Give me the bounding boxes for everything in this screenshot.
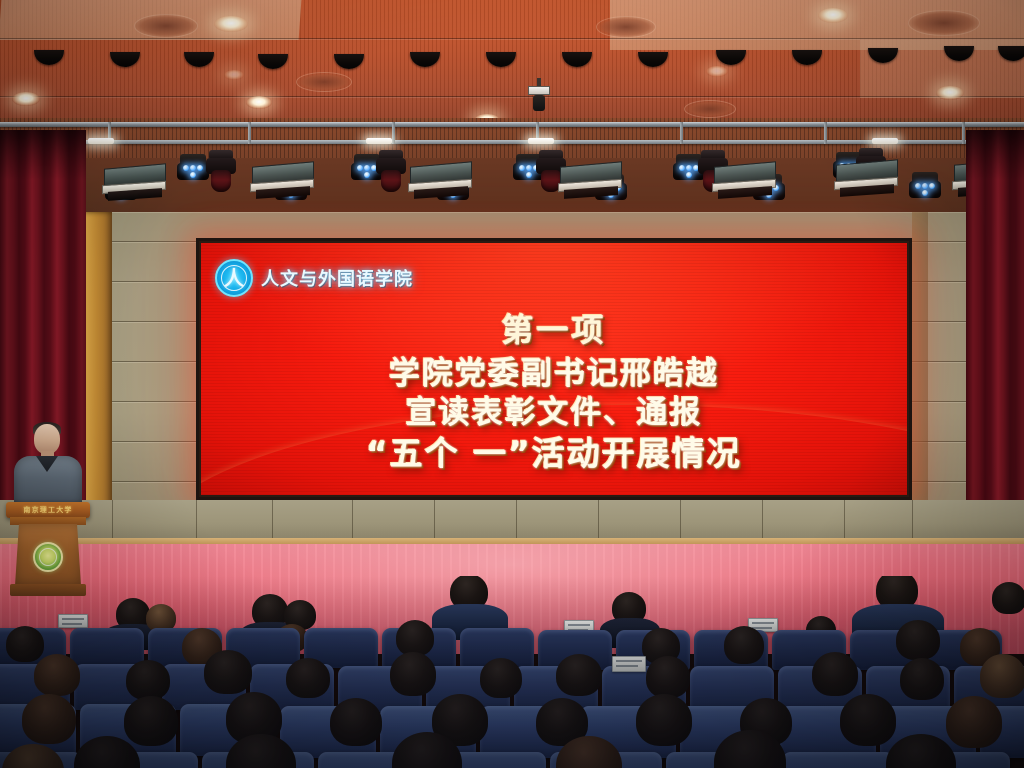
audience-head (22, 694, 76, 744)
fresnel-blinder-fixture (560, 164, 622, 198)
apron-seam (912, 500, 913, 542)
moving-head-fixture (206, 150, 236, 194)
placard-line (568, 624, 590, 626)
truss-pipe (0, 140, 1024, 144)
curtain-shadow (966, 130, 1024, 180)
ceiling-downlight (224, 70, 244, 80)
audience-head (636, 694, 692, 746)
recessed-ring-fixture (908, 10, 980, 36)
led-screen-frame: 人 人文与外国语学院 第一项 学院党委副书记邢皓越 宣读表彰文件、通报 “五个 … (196, 238, 912, 500)
ceiling-downlight (12, 92, 40, 106)
fresnel-blinder-fixture (104, 166, 166, 200)
recessed-ring-fixture (296, 72, 352, 92)
screen-body-text: 学院党委副书记邢皓越 宣读表彰文件、通报 “五个 一”活动开展情况 (201, 355, 907, 475)
par-led (686, 165, 692, 171)
par-led (519, 165, 525, 171)
placard-line (616, 665, 638, 667)
screen-line-1: 学院党委副书记邢皓越 (201, 355, 907, 394)
audience-head (812, 652, 858, 696)
par-can-lens-array (177, 163, 209, 180)
audience-head (330, 698, 382, 746)
podium-engraved-text: 南京理工大学 (12, 505, 84, 515)
ceiling-downlight (214, 16, 248, 32)
par-led (929, 183, 935, 189)
recessed-ring-fixture (684, 100, 736, 118)
auditorium-seat (70, 628, 144, 668)
audience-head (390, 652, 436, 696)
fresnel-blinder-fixture (836, 162, 898, 196)
led-screen: 人 人文与外国语学院 第一项 学院党委副书记邢皓越 宣读表彰文件、通报 “五个 … (201, 243, 907, 495)
truss-strut (680, 122, 683, 144)
crest-ring (39, 548, 57, 566)
par-led (922, 190, 928, 196)
audience-head (6, 626, 44, 662)
stage-apron (0, 500, 1024, 542)
audience-head (480, 658, 522, 698)
led-par-can (908, 172, 942, 202)
par-led (922, 183, 928, 189)
par-led (526, 165, 532, 171)
ceiling-downlight (936, 86, 964, 100)
placard-line (752, 622, 774, 624)
university-crest-icon (33, 542, 63, 572)
truss-strip-light (366, 138, 392, 144)
par-led (364, 172, 370, 178)
stage-wood-trim-right (912, 212, 928, 520)
recessed-ring-fixture (134, 14, 198, 38)
apron-seam (434, 500, 435, 542)
fresnel-blinder-fixture (410, 164, 472, 198)
truss-strip-light (528, 138, 554, 144)
audience-area (0, 576, 1024, 768)
apron-seam (762, 500, 763, 542)
speaker-head (34, 424, 60, 454)
apron-seam (352, 500, 353, 542)
audience-head (900, 658, 944, 700)
audience-head (396, 620, 434, 656)
ceiling-downlight (706, 66, 728, 77)
truss-strut (962, 122, 965, 144)
par-led (364, 165, 370, 171)
truss-strut (248, 122, 251, 144)
audience-head (124, 696, 178, 746)
auditorium-seat (782, 752, 894, 768)
audience-head (286, 658, 330, 698)
audience-head (646, 656, 690, 698)
audience-head (34, 654, 80, 696)
truss-strut (824, 122, 827, 144)
audience-head (840, 694, 896, 746)
led-par-can (176, 154, 210, 184)
apron-seam (196, 500, 197, 542)
curtain-shadow (0, 130, 86, 180)
podium-top: 南京理工大学 (6, 502, 90, 518)
audience-head (126, 660, 170, 700)
audience-head (556, 654, 602, 696)
screen-line-3: “五个 一”活动开展情况 (201, 433, 907, 475)
audience-head (946, 696, 1002, 748)
seat-placard (612, 656, 646, 672)
placard-line (616, 660, 642, 662)
ceiling-downlight (246, 96, 272, 109)
par-led (526, 172, 532, 178)
ceiling-camera (528, 86, 550, 116)
screen-line-2: 宣读表彰文件、通报 (201, 394, 907, 433)
apron-seam (598, 500, 599, 542)
auditorium-photo: 人 人文与外国语学院 第一项 学院党委副书记邢皓越 宣读表彰文件、通报 “五个 … (0, 0, 1024, 768)
camera-lens (533, 95, 545, 111)
moving-head-fixture (376, 150, 406, 194)
apron-seam (112, 500, 113, 542)
par-led (357, 165, 363, 171)
truss-strip-light (88, 138, 114, 144)
audience-head (896, 620, 940, 660)
audience-head (204, 650, 252, 694)
placard-line (62, 623, 82, 625)
truss-pipe (0, 122, 1024, 127)
screen-headline: 第一项 (201, 305, 907, 351)
par-led (190, 165, 196, 171)
truss-strut (392, 122, 395, 144)
seat-placard (58, 614, 88, 628)
par-led (679, 165, 685, 171)
ceiling-seam (0, 96, 1024, 98)
podium-lip (10, 517, 86, 525)
emblem-glyph: 人 (224, 268, 244, 288)
school-logo: 人 人文与外国语学院 (215, 259, 413, 297)
camera-body (528, 86, 550, 95)
par-led (197, 165, 203, 171)
stage-curtain-right (966, 130, 1024, 560)
audience-head (992, 582, 1024, 614)
fresnel-blinder-fixture (252, 164, 314, 198)
par-led (686, 172, 692, 178)
fixture-head (381, 170, 401, 192)
audience-head (980, 654, 1024, 698)
fresnel-blinder-fixture (714, 164, 776, 198)
par-led (915, 183, 921, 189)
truss-strip-light (872, 138, 898, 144)
ceiling (0, 0, 1024, 132)
school-name-text: 人文与外国语学院 (261, 265, 413, 291)
placard-line (62, 618, 84, 620)
apron-seam (680, 500, 681, 542)
par-led (190, 172, 196, 178)
apron-seam (844, 500, 845, 542)
ceiling-seam (0, 38, 1024, 40)
audience-head (724, 626, 764, 664)
fixture-head (211, 170, 231, 192)
par-can-lens-array (909, 181, 941, 198)
par-led (183, 165, 189, 171)
ceiling-downlight (818, 8, 848, 23)
recessed-ring-fixture (596, 16, 656, 38)
apron-seam (516, 500, 517, 542)
apron-seam (272, 500, 273, 542)
school-emblem-icon: 人 (215, 259, 253, 297)
